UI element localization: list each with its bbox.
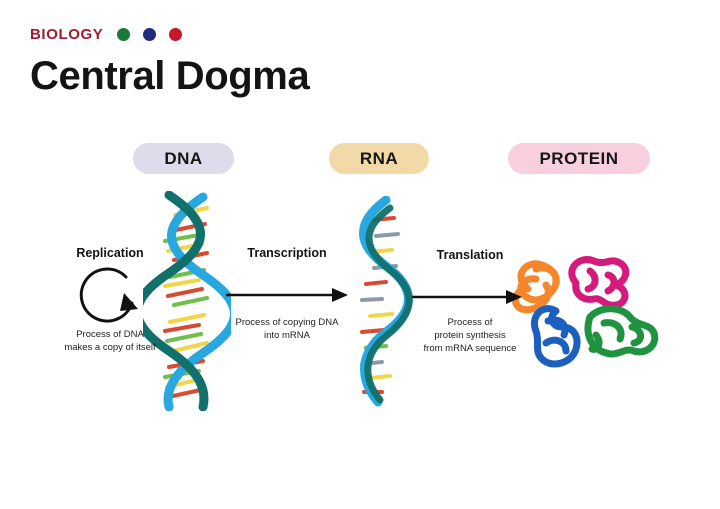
caption-line: into mRNA bbox=[222, 330, 352, 343]
caption-line: Process of copying DNA bbox=[222, 317, 352, 330]
step-translation-label: Translation bbox=[410, 248, 530, 263]
step-replication-caption: Process of DNA makes a copy of itself bbox=[40, 329, 180, 355]
step-transcription: Transcription Process of copying DNA int… bbox=[222, 246, 352, 343]
central-dogma-diagram: DNA RNA PROTEIN bbox=[0, 0, 720, 509]
caption-line: Process of DNA bbox=[40, 329, 180, 342]
step-translation: Translation Process of protein synthesis… bbox=[410, 248, 530, 355]
caption-line: from mRNA sequence bbox=[410, 343, 530, 356]
rna-single-strand-illustration bbox=[348, 196, 418, 413]
protein-lobe-blue bbox=[534, 309, 577, 364]
caption-line: makes a copy of itself bbox=[40, 342, 180, 355]
protein-lobe-magenta bbox=[572, 260, 626, 306]
stage-pill-protein: PROTEIN bbox=[508, 143, 650, 174]
step-transcription-label: Transcription bbox=[222, 246, 352, 261]
step-replication-label: Replication bbox=[40, 246, 180, 261]
stage-pill-rna: RNA bbox=[329, 143, 429, 174]
step-transcription-caption: Process of copying DNA into mRNA bbox=[222, 317, 352, 343]
stage-pill-dna: DNA bbox=[133, 143, 234, 174]
step-replication: Replication Process of DNA makes a copy … bbox=[40, 246, 180, 355]
right-arrow-icon bbox=[222, 269, 352, 311]
protein-lobe-green bbox=[588, 309, 655, 354]
caption-line: Process of bbox=[410, 317, 530, 330]
caption-line: protein synthesis bbox=[410, 330, 530, 343]
right-arrow-icon bbox=[410, 271, 530, 313]
circular-arrow-icon bbox=[40, 267, 180, 327]
step-translation-caption: Process of protein synthesis from mRNA s… bbox=[410, 317, 530, 355]
